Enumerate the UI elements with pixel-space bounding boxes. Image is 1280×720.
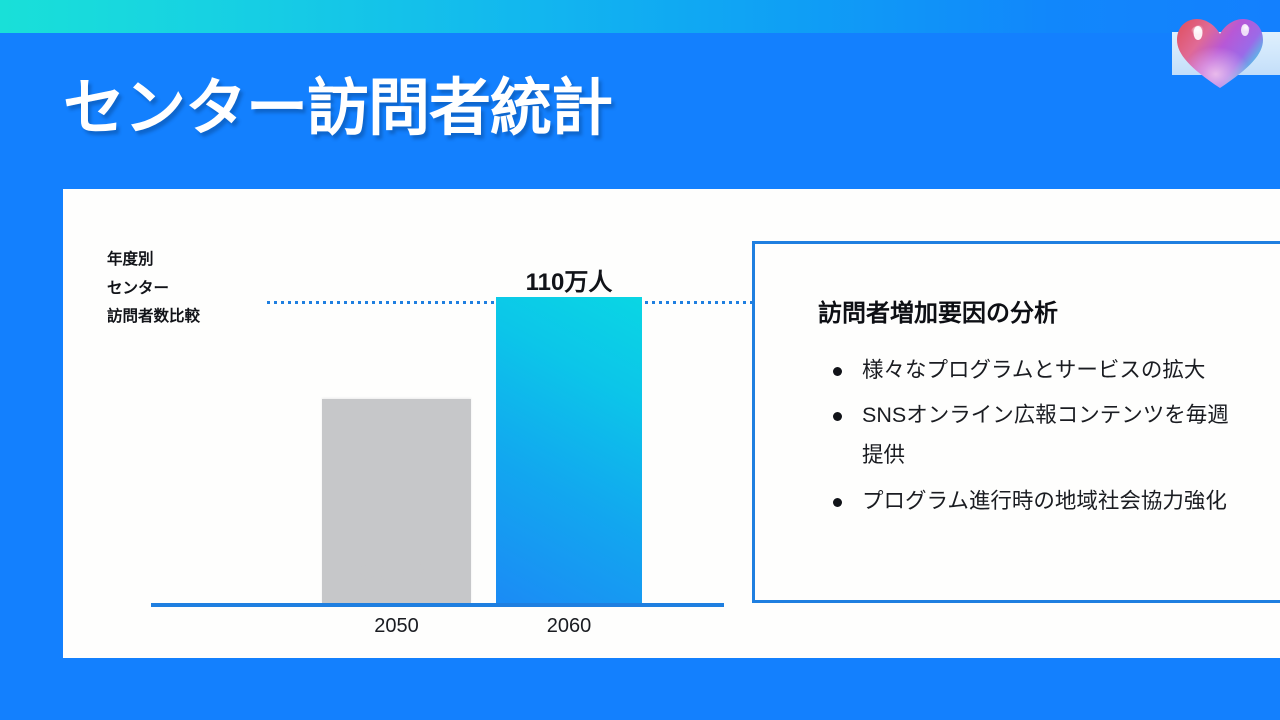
bar-2060 bbox=[496, 297, 642, 603]
chart-axis-line bbox=[151, 603, 724, 607]
analysis-panel: 訪問者増加要因の分析 様々なプログラムとサービスの拡大 SNSオンライン広報コン… bbox=[752, 241, 1280, 603]
top-gradient-bar bbox=[0, 0, 1280, 33]
analysis-panel-title: 訪問者増加要因の分析 bbox=[818, 293, 1058, 328]
list-item: プログラム進行時の地域社会協力強化 bbox=[825, 481, 1250, 521]
slide-title: センター訪問者統計 bbox=[63, 78, 612, 140]
x-tick-2050: 2050 bbox=[322, 615, 471, 638]
list-item: 様々なプログラムとサービスの拡大 bbox=[825, 350, 1250, 390]
bar-value-2060: 110万人 bbox=[496, 262, 642, 297]
bar-value-2050: 90万人 bbox=[322, 554, 471, 589]
bar-chart: 90万人 110万人 2050 2060 bbox=[107, 189, 747, 658]
list-item: SNSオンライン広報コンテンツを毎週提供 bbox=[825, 395, 1250, 475]
x-tick-2060: 2060 bbox=[496, 615, 642, 638]
analysis-bullet-list: 様々なプログラムとサービスの拡大 SNSオンライン広報コンテンツを毎週提供 プロ… bbox=[825, 350, 1250, 526]
glossy-heart-icon bbox=[1172, 14, 1268, 92]
